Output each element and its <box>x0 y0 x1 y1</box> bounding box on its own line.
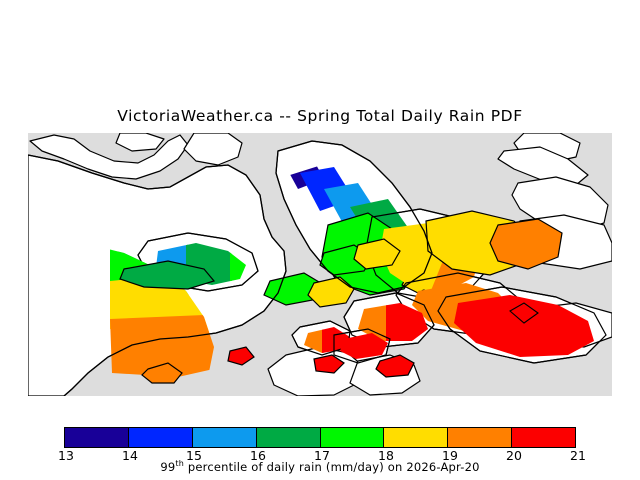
colorbar-band-16-17[interactable] <box>257 428 321 447</box>
colorbar-band-19-20[interactable] <box>448 428 512 447</box>
colorbar-bands[interactable] <box>64 427 576 448</box>
caption-prefix: 99 <box>160 460 175 474</box>
colorbar-band-18-19[interactable] <box>384 428 448 447</box>
weather-map-page: VictoriaWeather.ca -- Spring Total Daily… <box>0 0 640 480</box>
caption-superscript: th <box>175 459 184 468</box>
colorbar-band-14-15[interactable] <box>129 428 193 447</box>
colorbar-band-20-21[interactable] <box>512 428 575 447</box>
map-svg <box>28 133 612 396</box>
map-canvas[interactable] <box>28 133 612 396</box>
colorbar-band-15-16[interactable] <box>193 428 257 447</box>
colorbar-caption: 99th percentile of daily rain (mm/day) o… <box>0 459 640 474</box>
colorbar[interactable] <box>64 427 576 448</box>
colorbar-band-17-18[interactable] <box>321 428 385 447</box>
colorbar-band-13-14[interactable] <box>65 428 129 447</box>
caption-rest: percentile of daily rain (mm/day) on 202… <box>184 460 480 474</box>
page-title: VictoriaWeather.ca -- Spring Total Daily… <box>0 107 640 125</box>
map-geometry <box>28 133 612 396</box>
